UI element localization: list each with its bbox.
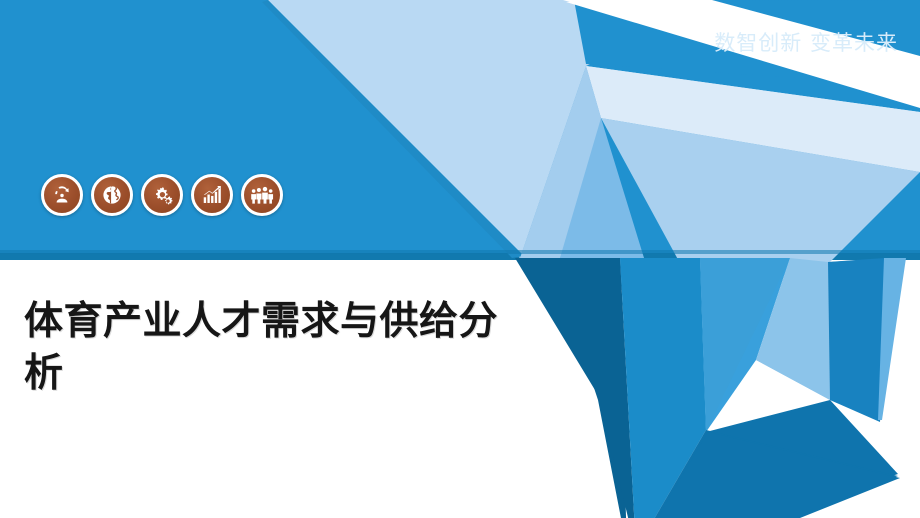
tagline-text: 数智创新 变革未来 <box>714 27 898 57</box>
polygon-background <box>0 0 920 518</box>
title-block: 体育产业人才需求与供给分析 <box>24 296 524 400</box>
people-group-icon <box>241 174 283 216</box>
globe-icon <box>91 174 133 216</box>
page-title: 体育产业人才需求与供给分析 <box>24 296 524 400</box>
bar-chart-growth-icon <box>191 174 233 216</box>
recycle-people-icon <box>41 174 83 216</box>
title-slide: 数智创新 变革未来 <box>0 0 920 518</box>
gears-icon <box>141 174 183 216</box>
icon-row <box>41 174 283 216</box>
